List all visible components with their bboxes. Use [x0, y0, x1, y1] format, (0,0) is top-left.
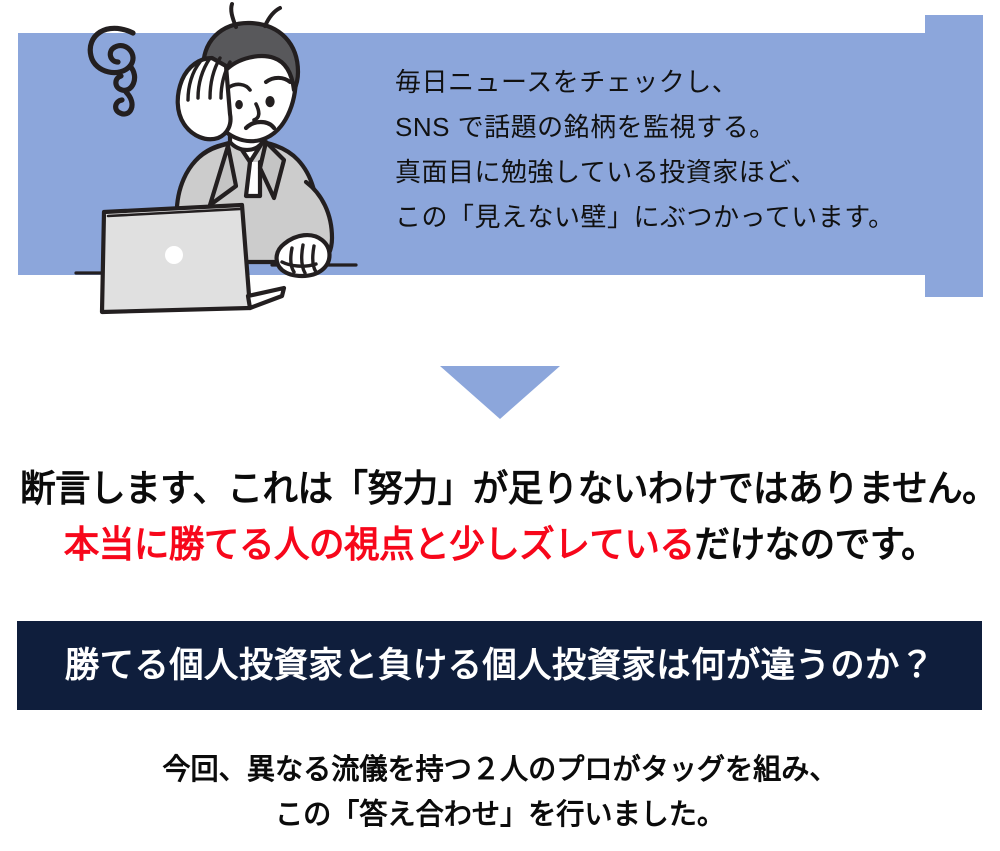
headline-line-2: 本当に勝てる人の視点と少しズレているだけなのです。 [20, 518, 980, 574]
landing-page-section: 毎日ニュースをチェックし、 SNS で話題の銘柄を監視する。 真面目に勉強してい… [0, 0, 1000, 851]
hero-copy-block: 毎日ニュースをチェックし、 SNS で話題の銘柄を監視する。 真面目に勉強してい… [395, 60, 955, 240]
headline-block: 断言します、これは「努力」が足りないわけではありません。 本当に勝てる人の視点と… [0, 462, 1000, 574]
closing-line-1: 今回、異なる流儀を持つ２人のプロがタッグを組み、 [15, 748, 985, 793]
question-banner-text: 勝てる個人投資家と負ける個人投資家は何が違うのか？ [65, 648, 935, 683]
down-triangle-icon [440, 366, 560, 419]
hero-copy-line-2: SNS で話題の銘柄を監視する。 [395, 105, 955, 150]
hero-copy-line-1: 毎日ニュースをチェックし、 [395, 60, 955, 105]
headline-line-2-tail: だけなのです。 [694, 525, 936, 566]
closing-copy-block: 今回、異なる流儀を持つ２人のプロがタッグを組み、 この「答え合わせ」を行いました… [0, 748, 1000, 838]
hero-copy-line-3: 真面目に勉強している投資家ほど、 [395, 150, 955, 195]
hero-section: 毎日ニュースをチェックし、 SNS で話題の銘柄を監視する。 真面目に勉強してい… [0, 0, 1000, 345]
headline-emphasis-red: 本当に勝てる人の視点と少しズレている [64, 525, 695, 566]
worried-investor-illustration [60, 0, 370, 345]
question-banner: 勝てる個人投資家と負ける個人投資家は何が違うのか？ [17, 621, 982, 710]
hero-copy-line-4: この「見えない壁」にぶつかっています。 [395, 195, 955, 240]
section-divider [0, 366, 1000, 424]
thought-scribble-icon [90, 28, 134, 114]
headline-line-1: 断言します、これは「努力」が足りないわけではありません。 [20, 462, 980, 518]
hero-panel-step-tab-bottom [925, 275, 983, 297]
closing-line-2: この「答え合わせ」を行いました。 [15, 793, 985, 838]
